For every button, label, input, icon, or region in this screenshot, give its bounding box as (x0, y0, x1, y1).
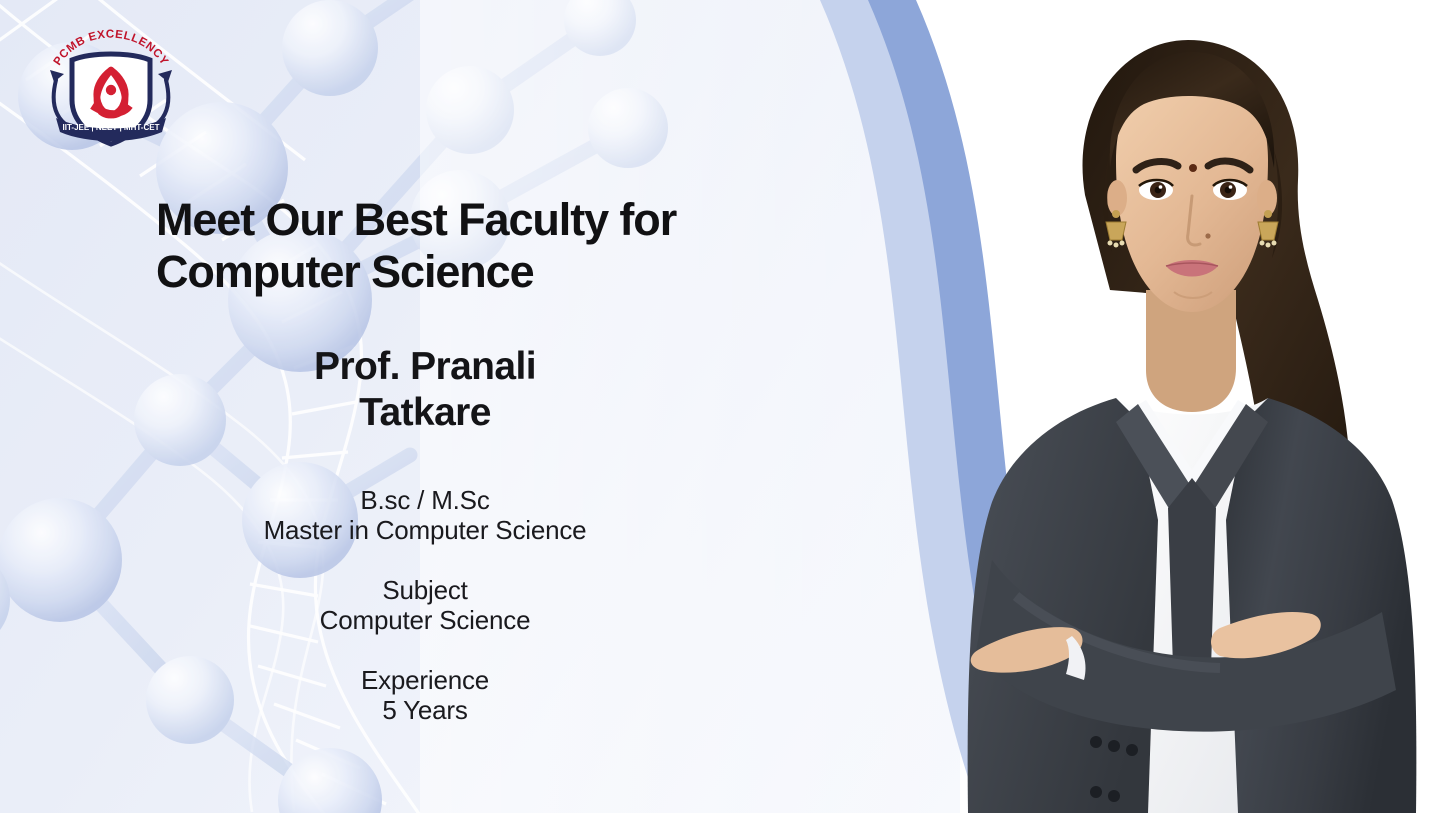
experience-block: Experience 5 Years (125, 665, 725, 725)
arrow-left-icon (54, 80, 68, 126)
arrow-right-icon (154, 80, 168, 126)
experience-label: Experience (125, 665, 725, 695)
qualification-value: Master in Computer Science (125, 515, 725, 545)
pcmb-excellency-logo[interactable]: PCMB EXCELLENCY IIT-JEE | NEET | MHT-CET (40, 22, 182, 150)
faculty-portrait (920, 0, 1440, 813)
qualification-label: B.sc / M.Sc (125, 485, 725, 515)
nose-stud (1205, 233, 1210, 238)
logo-banner-text: IIT-JEE | NEET | MHT-CET (63, 123, 160, 132)
qualification-block: B.sc / M.Sc Master in Computer Science (125, 485, 725, 545)
faculty-name-line-1: Prof. Pranali (314, 345, 536, 388)
page-title: Meet Our Best Faculty for Computer Scien… (156, 194, 756, 298)
headline-line-2: Computer Science (156, 246, 534, 297)
subject-block: Subject Computer Science (125, 575, 725, 635)
faculty-name: Prof. Pranali Tatkare (125, 344, 725, 436)
headline-line-1: Meet Our Best Faculty for (156, 194, 676, 245)
faculty-name-line-2: Tatkare (359, 391, 491, 434)
faculty-poster: PCMB EXCELLENCY IIT-JEE | NEET | MHT-CET… (0, 0, 1440, 813)
bindi (1189, 164, 1197, 172)
experience-value: 5 Years (125, 695, 725, 725)
subject-value: Computer Science (125, 605, 725, 635)
subject-label: Subject (125, 575, 725, 605)
